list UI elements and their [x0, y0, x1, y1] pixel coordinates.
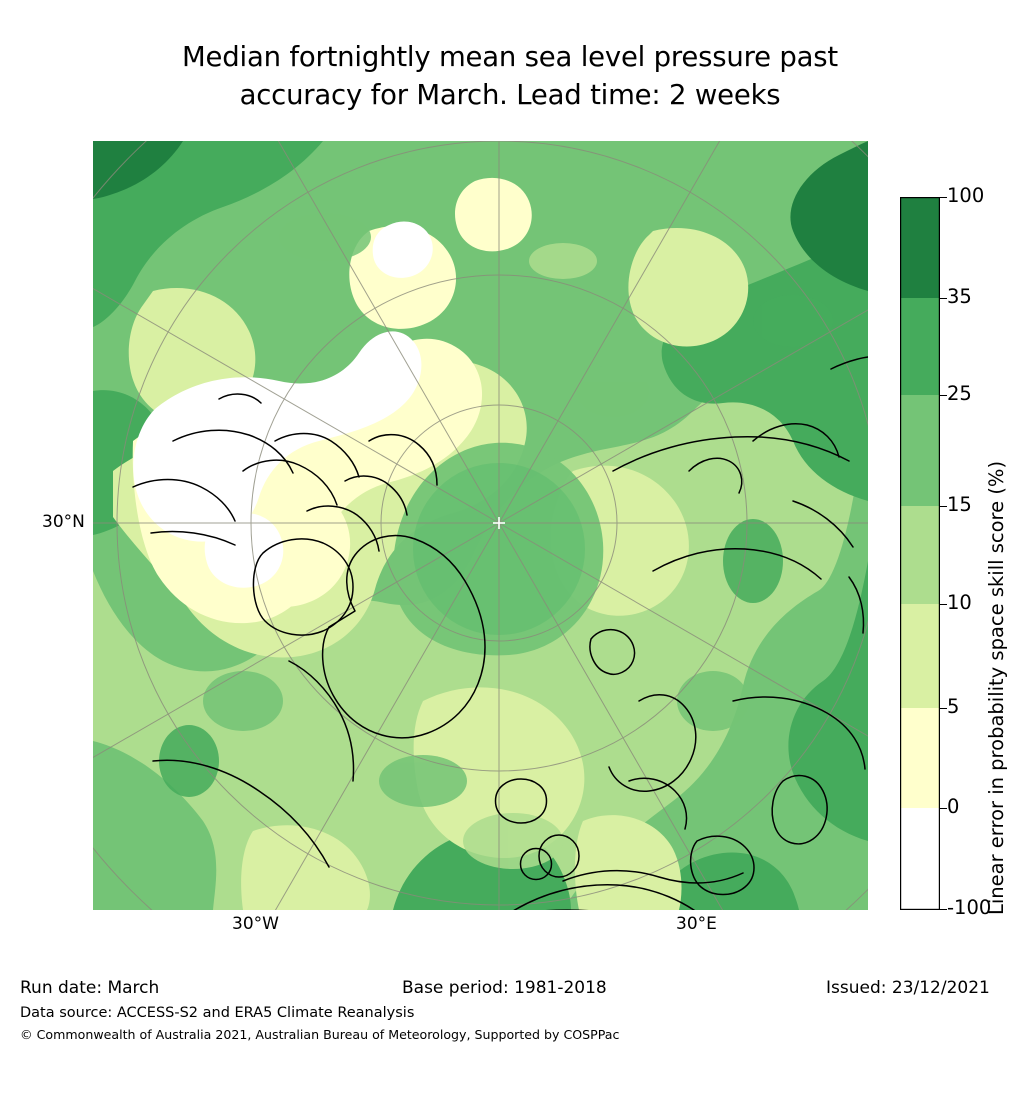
colorbar-band-35-100 [900, 197, 940, 298]
colorbar-band-15-25 [900, 395, 940, 506]
colorbar-tickmark-35 [940, 298, 947, 299]
field-0-5-spot1 [455, 178, 532, 251]
colorbar-tickmark-0 [940, 808, 947, 809]
colorbar-tickmark-10 [940, 604, 947, 605]
footer: Run date: March Base period: 1981-2018 I… [0, 978, 1020, 1058]
colorbar-tickmark-100 [940, 197, 947, 198]
colorbar-ticklabel-5: 5 [947, 695, 959, 718]
colorbar-band-25-35 [900, 298, 940, 395]
colorbar-ticklabel-100: 100 [947, 184, 984, 207]
page-title: Median fortnightly mean sea level pressu… [0, 38, 1020, 114]
footer-base-period: Base period: 1981-2018 [402, 978, 607, 998]
colorbar-ticklabel-25: 25 [947, 382, 972, 405]
field-neg-spot2 [205, 513, 284, 588]
colorbar-band-0-5 [900, 708, 940, 808]
polar-stereographic-map [93, 141, 868, 910]
colorbar[interactable] [900, 197, 940, 910]
colorbar-title: Linear error in probability space skill … [985, 155, 1008, 915]
colorbar-tickmark-25 [940, 395, 947, 396]
title-line-1: Median fortnightly mean sea level pressu… [0, 38, 1020, 76]
footer-issued-date: Issued: 23/12/2021 [826, 978, 990, 998]
map-plot-area[interactable] [93, 141, 868, 910]
colorbar-ticklabel-0: 0 [947, 795, 959, 818]
colorbar-tickmark-15 [940, 506, 947, 507]
colorbar-band-neg100-0 [900, 808, 940, 910]
axis-label-longitude-30w: 30°W [232, 914, 279, 934]
colorbar-tickmark-5 [940, 708, 947, 709]
footer-data-source: Data source: ACCESS-S2 and ERA5 Climate … [20, 1005, 414, 1021]
colorbar-swatches [900, 197, 940, 910]
colorbar-ticklabel-15: 15 [947, 493, 972, 516]
title-line-2: accuracy for March. Lead time: 2 weeks [0, 76, 1020, 114]
footer-copyright: © Commonwealth of Australia 2021, Austra… [20, 1027, 619, 1042]
axis-label-latitude-30n: 30°N [42, 512, 85, 532]
colorbar-ticklabel-35: 35 [947, 285, 972, 308]
axis-label-longitude-30e: 30°E [676, 914, 717, 934]
skill-score-field [93, 141, 868, 910]
colorbar-band-5-10 [900, 604, 940, 708]
footer-run-date: Run date: March [20, 978, 159, 998]
colorbar-tickmark-neg100 [940, 909, 947, 910]
colorbar-ticklabel-10: 10 [947, 591, 972, 614]
colorbar-band-10-15 [900, 506, 940, 604]
